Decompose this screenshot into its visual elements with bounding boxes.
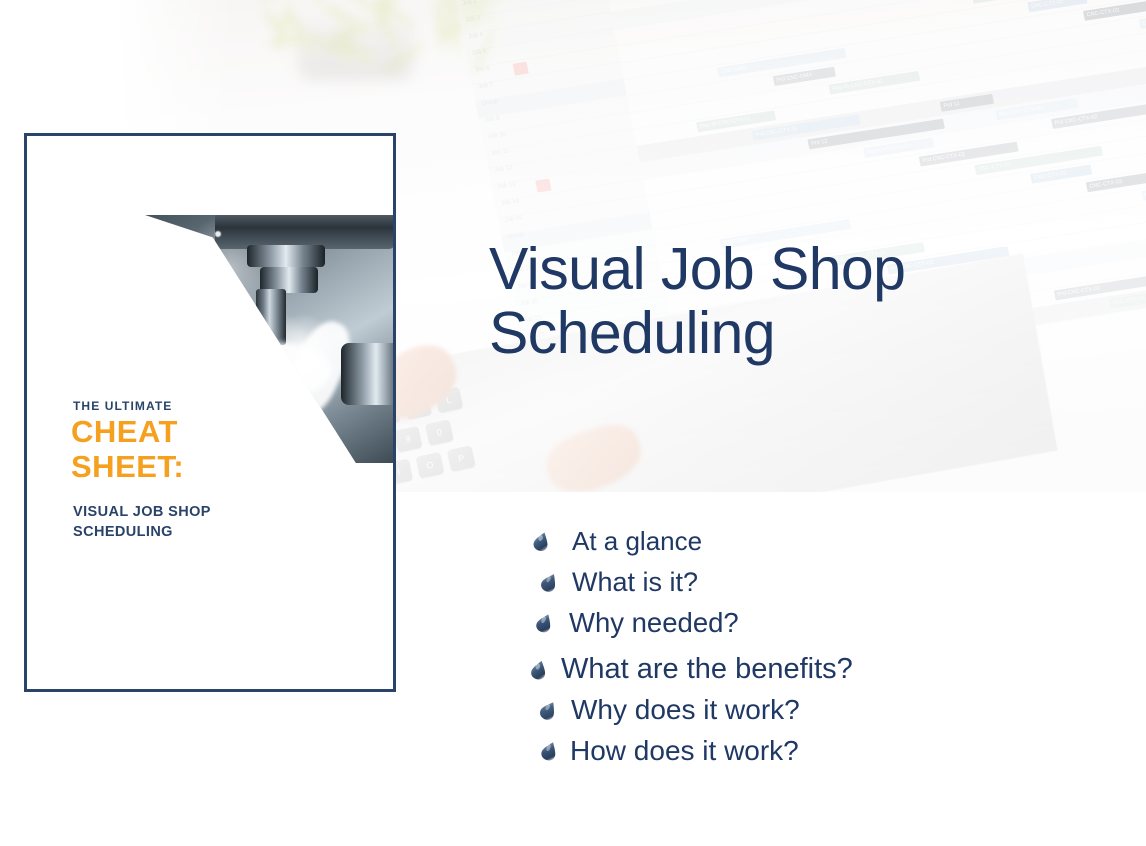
cnc-disc <box>215 215 395 249</box>
list-item[interactable]: What are the benefits? <box>530 653 1080 686</box>
list-item-label: Why needed? <box>569 607 739 639</box>
coolant-droplet-4 <box>313 421 321 432</box>
cnc-collar-1 <box>247 245 325 267</box>
list-item-label: What is it? <box>572 567 698 598</box>
cover-subtitle-line1: VISUAL JOB SHOP <box>73 503 211 523</box>
cover-eyebrow: THE ULTIMATE <box>73 399 172 413</box>
droplet-bullet-icon <box>541 572 558 593</box>
list-item[interactable]: What is it? <box>541 567 1080 598</box>
droplet-bullet-icon <box>530 659 548 681</box>
leaf <box>259 0 305 5</box>
cover-headline-line2: SHEET: <box>71 450 184 485</box>
list-item-label: How does it work? <box>570 735 799 767</box>
cnc-workpiece <box>341 343 396 405</box>
cover-headline-line1: CHEAT <box>71 415 184 450</box>
droplet-bullet-icon <box>536 612 553 634</box>
cover-subtitle-line2: SCHEDULING <box>73 523 211 543</box>
keyboard-key: O <box>415 452 444 479</box>
page-title-line1: Visual Job Shop <box>489 238 1009 302</box>
coolant-droplet-2 <box>215 231 221 237</box>
leaf <box>311 0 322 10</box>
page-title-line2: Scheduling <box>489 302 1009 366</box>
cover-headline: CHEAT SHEET: <box>71 415 184 484</box>
cnc-tool-shank <box>256 289 286 345</box>
page-title: Visual Job Shop Scheduling <box>489 238 1009 365</box>
list-item[interactable]: At a glance <box>533 526 1080 557</box>
keyboard-key: P <box>447 445 476 472</box>
slide-canvas: ZoomLinkSaveHighlightLogout Mon, May 08,… <box>0 0 1146 846</box>
list-item-label: Why does it work? <box>571 694 800 726</box>
plant-leaves <box>226 0 486 64</box>
list-item[interactable]: Why needed? <box>536 607 1080 639</box>
agenda-list: At a glance What is it? <box>520 526 1080 767</box>
keyboard-key: 0 <box>425 419 454 446</box>
droplet-bullet-icon <box>541 740 558 762</box>
list-item[interactable]: Why does it work? <box>540 694 1080 726</box>
list-item-label: What are the benefits? <box>561 653 853 686</box>
alert-chip <box>535 179 551 193</box>
list-item[interactable]: How does it work? <box>541 735 1080 767</box>
droplet-bullet-icon <box>533 531 550 552</box>
coolant-droplet-1 <box>193 243 202 252</box>
list-item-label: At a glance <box>572 526 702 557</box>
keyboard-key: 9 <box>394 426 423 453</box>
alert-chip <box>513 62 529 76</box>
cover-subtitle: VISUAL JOB SHOP SCHEDULING <box>73 503 211 542</box>
coolant-droplet-3 <box>263 401 274 415</box>
leaf <box>433 0 448 54</box>
ebook-cover-card[interactable]: THE ULTIMATE CHEAT SHEET: VISUAL JOB SHO… <box>24 133 396 692</box>
droplet-bullet-icon <box>540 700 557 721</box>
